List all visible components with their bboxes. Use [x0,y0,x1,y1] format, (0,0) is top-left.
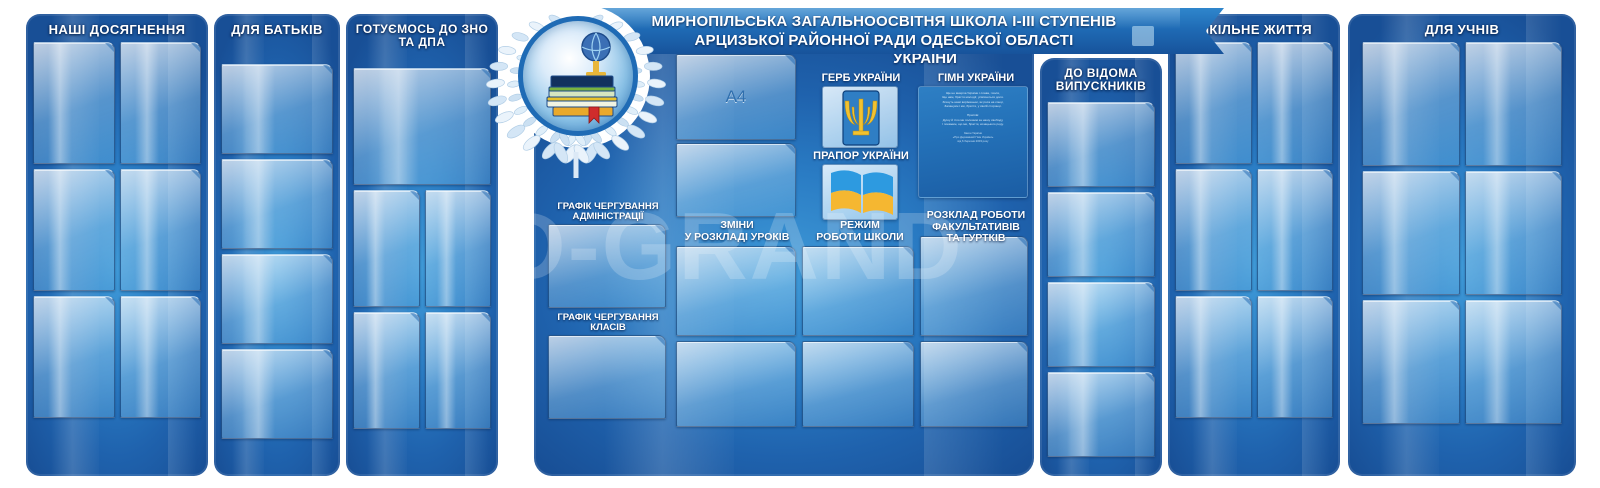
panel-achievements-title: Наші досягнення [26,14,208,42]
emblem-disc [518,16,638,136]
pocket[interactable] [1047,282,1155,367]
plate-anthem-text: Ще не вмерла України і слава, і воля, Ще… [918,86,1028,198]
pocket[interactable] [1257,169,1334,291]
pocket-lesson-schedule-a4[interactable]: A4 [676,54,796,140]
anthem-law-signature: Закон України «Про Державний Гімн Україн… [924,131,1022,144]
pocket-size-label: A4 [677,55,795,139]
pocket[interactable] [221,64,333,154]
pocket[interactable] [425,190,492,307]
pocket[interactable] [1175,42,1252,164]
school-title-line1: Мирнопільська загальноосвітня школа I-II… [652,13,1117,30]
label-class-duty-schedule: Графік чергування класів [546,313,670,334]
panel-achievements[interactable]: Наші досягнення [26,14,208,476]
pocket-bottom-3[interactable] [920,341,1028,427]
pocket[interactable] [1362,171,1460,295]
plate-coat-of-arms [822,86,898,148]
pocket[interactable] [1175,169,1252,291]
pocket-lesson-schedule-2[interactable] [676,143,796,217]
label-anthem: Гімн України [922,72,1030,84]
panel-school-life-pockets [1168,42,1340,426]
school-information-board: Наші досягнення Для батьків Готуємось до… [0,0,1600,488]
panel-parents-title: Для батьків [214,14,340,42]
label-coat-of-arms: Герб України [806,72,916,84]
label-schedule-changes: Зміни у розкладі уроків [676,220,798,243]
pocket[interactable] [33,169,115,291]
pocket[interactable] [1362,42,1460,166]
pocket[interactable] [221,159,333,249]
pocket[interactable] [353,190,420,307]
pocket[interactable] [33,296,115,418]
ukraine-tryzub-icon [823,87,898,148]
pocket-bottom-1[interactable] [676,341,796,427]
panel-graduates[interactable]: До відома випускників [1040,58,1162,476]
pocket[interactable] [221,254,333,344]
panel-students[interactable]: Для учнів [1348,14,1576,476]
anthem-body-text: Ще не вмерла України і слава, і воля, Ще… [924,91,1022,127]
panel-parents[interactable]: Для батьків [214,14,340,476]
pocket-school-mode[interactable] [802,246,914,336]
pocket[interactable] [1047,102,1155,187]
pocket-class-duty[interactable] [548,335,666,419]
pocket[interactable] [1362,300,1460,424]
panel-graduates-pockets [1040,98,1162,465]
pocket[interactable] [120,169,202,291]
label-flag: Прапор України [800,150,922,162]
pocket[interactable] [1465,171,1563,295]
pocket-admin-duty[interactable] [548,224,666,308]
pocket[interactable] [1465,300,1563,424]
pocket-schedule-changes[interactable] [676,246,796,336]
pocket[interactable] [1257,296,1334,418]
pocket[interactable] [120,42,202,164]
pocket-electives[interactable] [920,236,1028,336]
pocket-bottom-2[interactable] [802,341,914,427]
pocket[interactable] [1175,296,1252,418]
pocket[interactable] [221,349,333,439]
panel-parents-pockets [214,42,340,447]
ukraine-flag-icon [823,165,898,220]
pocket[interactable] [353,312,420,429]
pocket[interactable] [1257,42,1334,164]
pocket[interactable] [120,296,202,418]
pocket[interactable] [425,312,492,429]
pocket[interactable] [33,42,115,164]
label-school-mode: Режим роботи школи [804,220,916,243]
panel-school-life[interactable]: Шкільне життя [1168,14,1340,476]
pocket[interactable] [1047,372,1155,457]
panel-students-pockets [1348,42,1576,432]
panel-achievements-pockets [26,42,208,426]
pocket[interactable] [1047,192,1155,277]
panel-students-title: Для учнів [1348,14,1576,42]
panel-graduates-title: До відома випускників [1040,58,1162,98]
label-electives-schedule: Розклад роботи факультативів та гуртків [920,210,1032,245]
school-emblem [468,2,684,178]
pocket[interactable] [1465,42,1563,166]
plate-ukraine-flag [822,164,898,220]
label-admin-duty-schedule: Графік чергування адміністрації [546,202,670,223]
